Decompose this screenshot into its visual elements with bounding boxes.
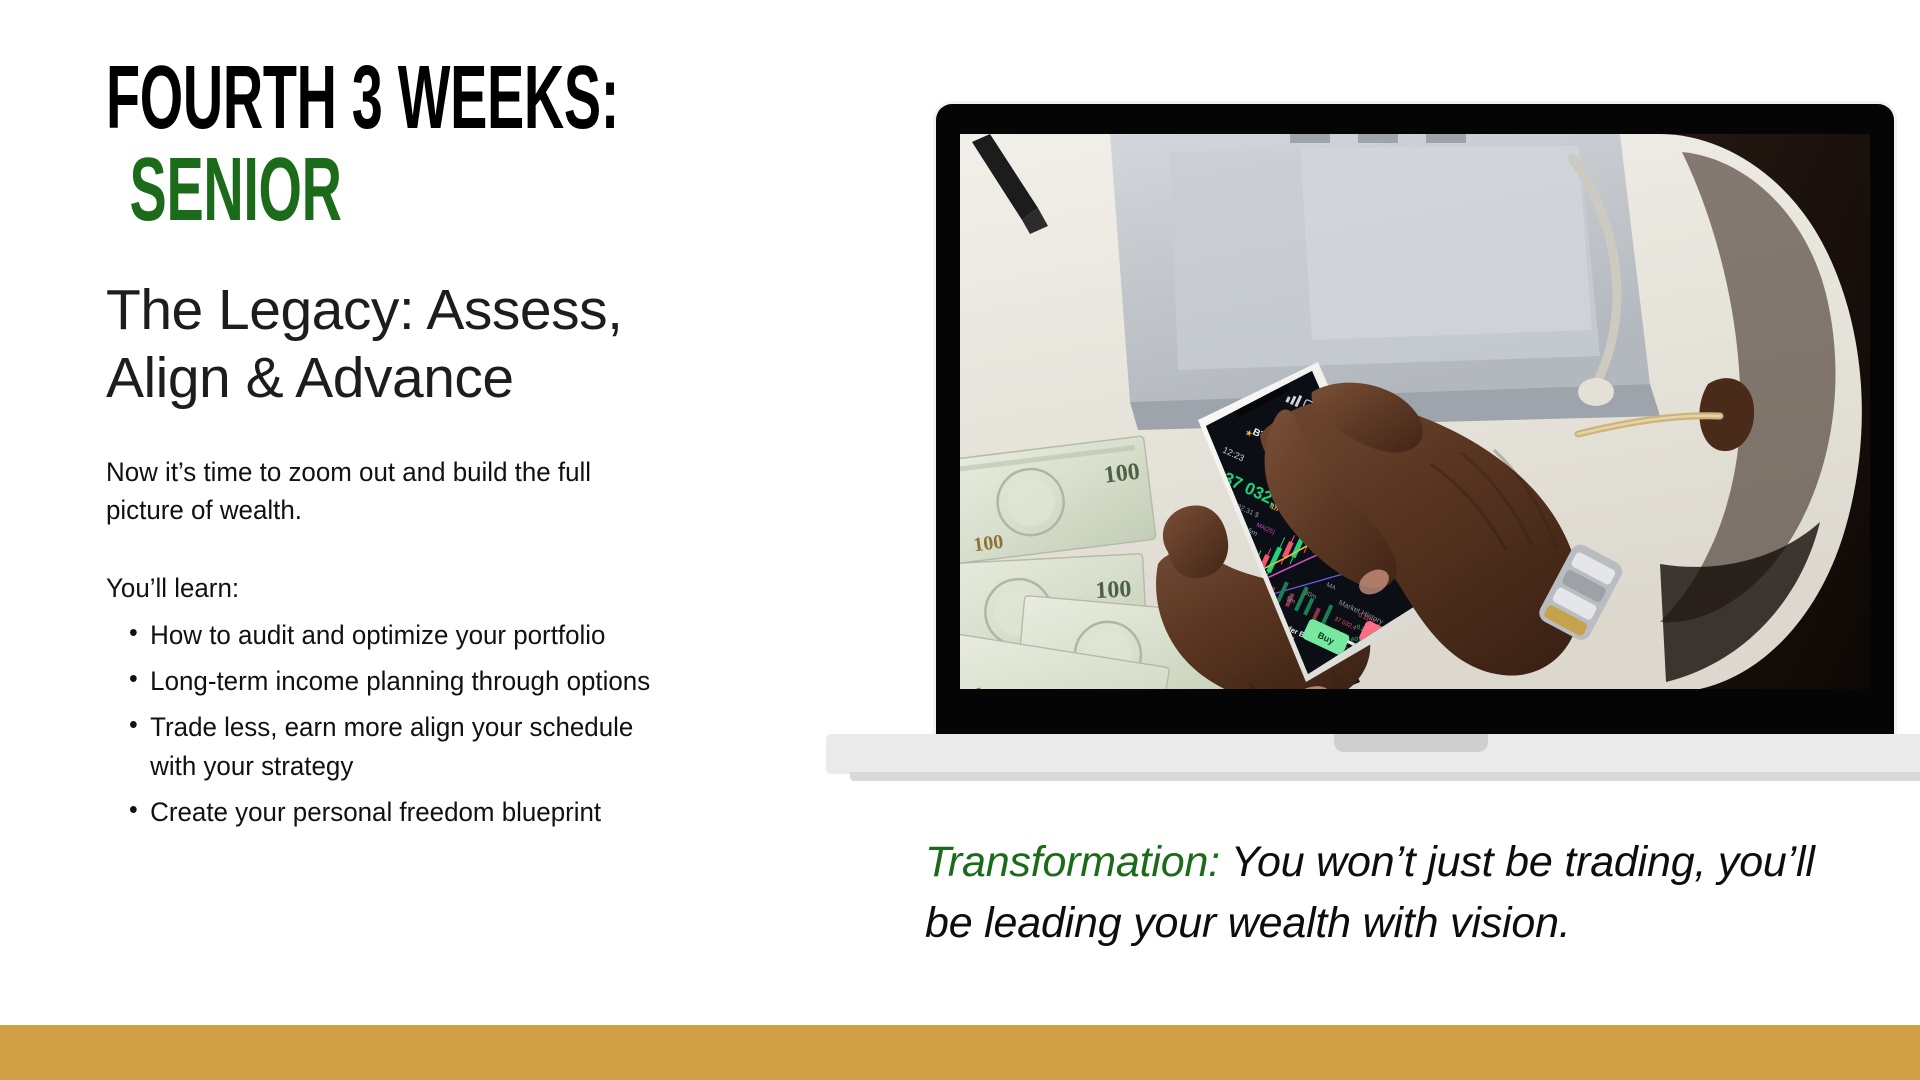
transformation-label: Transformation: [925,838,1220,886]
list-item: How to audit and optimize your portfolio [106,616,658,654]
left-text-column: FOURTH 3 WEEKS: SENIOR The Legacy: Asses… [106,56,806,831]
background-laptop [1110,134,1660,430]
list-item: Trade less, earn more align your schedul… [106,708,658,785]
laptop-foot [850,772,1920,781]
transformation-caption: Transformation: You won’t just be tradin… [925,832,1815,955]
eyebrow-primary: FOURTH 3 WEEKS: [106,56,540,142]
learning-outcomes-list: How to audit and optimize your portfolio… [106,616,658,832]
footer-accent-bar [0,1025,1920,1080]
laptop-screen: 100 100 100 100 1 [960,134,1870,689]
svg-text:100: 100 [972,531,1004,556]
laptop-mockup: 100 100 100 100 1 [826,104,1920,764]
list-item: Create your personal freedom blueprint [106,793,658,831]
laptop-lid: 100 100 100 100 1 [936,104,1894,741]
trading-photo-illustration: 100 100 100 100 1 [960,134,1870,689]
list-item: Long-term income planning through option… [106,662,658,700]
learn-lead-text: You’ll learn: [106,569,658,607]
svg-text:100: 100 [1095,576,1132,604]
page-title: The Legacy: Assess, Align & Advance [106,277,746,413]
svg-text:100: 100 [1102,459,1141,489]
laptop-base-notch [1334,734,1488,752]
eyebrow-accent: SENIOR [106,148,540,234]
body-copy-block: Now it’s time to zoom out and build the … [106,453,658,832]
intro-paragraph: Now it’s time to zoom out and build the … [106,453,658,530]
